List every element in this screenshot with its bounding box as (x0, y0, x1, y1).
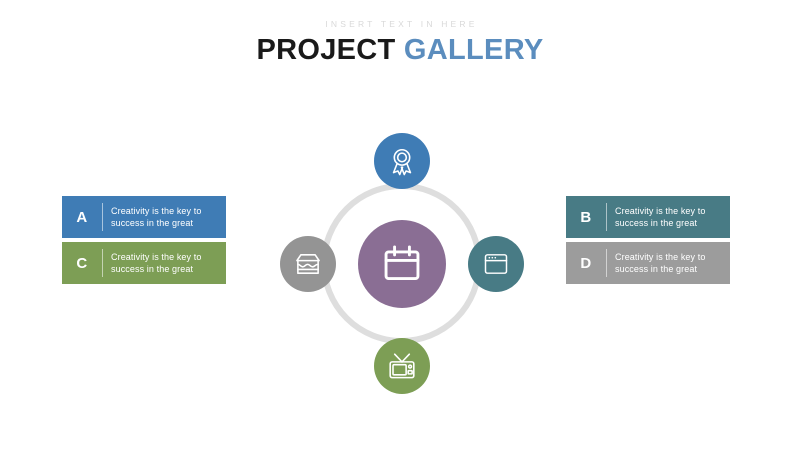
info-card-letter: C (62, 242, 102, 284)
info-card-b[interactable]: B Creativity is the key to success in th… (566, 196, 730, 238)
retro-tv-icon (387, 351, 417, 381)
award-ribbon-icon (387, 146, 417, 176)
header-eyebrow: INSERT TEXT IN HERE (0, 18, 800, 30)
info-card-d[interactable]: D Creativity is the key to success in th… (566, 242, 730, 284)
page-title-accent: GALLERY (404, 34, 544, 66)
browser-window-icon (482, 250, 510, 278)
diagram-node-left[interactable] (280, 236, 336, 292)
info-card-text: Creativity is the key to success in the … (607, 196, 730, 238)
info-card-text: Creativity is the key to success in the … (103, 242, 226, 284)
info-card-letter: A (62, 196, 102, 238)
diagram-node-bottom[interactable] (374, 338, 430, 394)
circular-diagram (280, 133, 525, 395)
page-header: INSERT TEXT IN HERE PROJECT GALLERY (0, 18, 800, 67)
market-stall-icon (293, 249, 323, 279)
calendar-icon (380, 242, 424, 286)
diagram-node-top[interactable] (374, 133, 430, 189)
info-card-letter: D (566, 242, 606, 284)
info-card-a[interactable]: A Creativity is the key to success in th… (62, 196, 226, 238)
info-card-text: Creativity is the key to success in the … (607, 242, 730, 284)
page-title-primary: PROJECT (256, 34, 395, 66)
info-card-c[interactable]: C Creativity is the key to success in th… (62, 242, 226, 284)
page-title: PROJECT GALLERY (0, 33, 800, 67)
info-card-text: Creativity is the key to success in the … (103, 196, 226, 238)
info-card-letter: B (566, 196, 606, 238)
diagram-node-center[interactable] (358, 220, 446, 308)
diagram-node-right[interactable] (468, 236, 524, 292)
